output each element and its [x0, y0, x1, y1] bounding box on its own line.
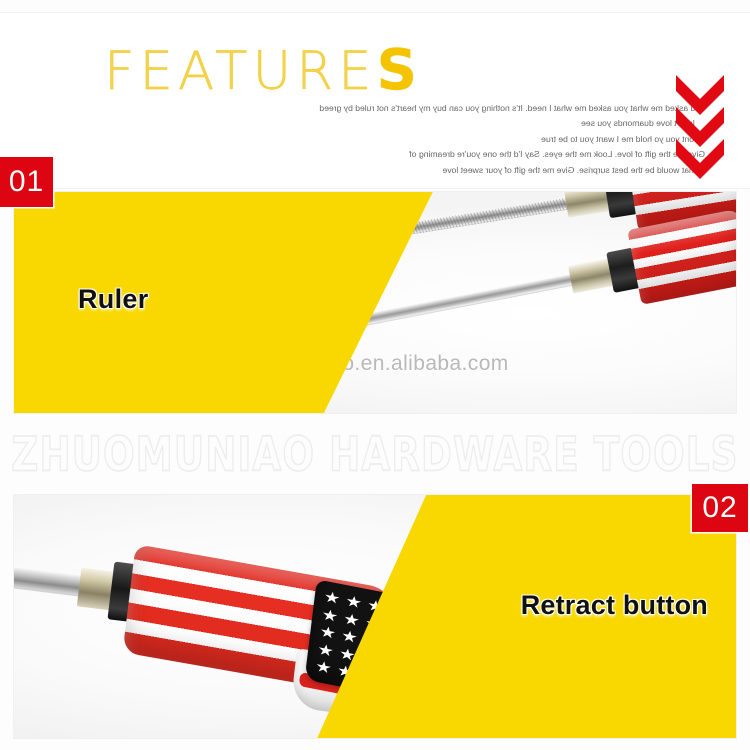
feature-panel-1: zhuomuniao.en.alibaba.com Ruler [14, 192, 736, 413]
lyrics-line: I wont you yo hold me I want you to be t… [95, 132, 705, 147]
watermark-band: ZHUOMUNIAO HARDWARE TOOLS [14, 420, 736, 490]
lyrics-line: Idon't love duamonds you see [95, 116, 705, 131]
star-icon [341, 630, 357, 645]
feature-panel-2: Retract button [14, 495, 736, 738]
chevron-down-icon [674, 137, 726, 179]
lyrics-block: You asked me what you asked me what I ne… [95, 101, 705, 178]
product-feature-page: FEATURES You asked me what you asked me … [0, 0, 750, 750]
star-icon [319, 626, 335, 641]
features-header: FEATURES You asked me what you asked me … [0, 13, 750, 188]
star-icon [315, 661, 331, 676]
page-title-tail: S [377, 38, 422, 103]
step-badge-02: 02 [692, 484, 748, 532]
striped-handle [627, 209, 736, 306]
feature-label-2: Retract button [521, 590, 708, 621]
star-icon [321, 608, 337, 623]
star-icon [324, 591, 340, 606]
lyrics-line: That would be the best surprise. Give me… [95, 163, 705, 178]
star-icon [317, 643, 333, 658]
feature-label-1: Ruler [78, 284, 149, 315]
star-icon [345, 595, 361, 610]
watermark-big: ZHUOMUNIAO HARDWARE TOOLS [11, 428, 738, 482]
chevron-double-down-icon-group [674, 73, 726, 183]
lyrics-line: You asked me what you asked me what I ne… [95, 101, 705, 116]
page-title: FEATURES [104, 43, 422, 99]
lyrics-line: Give me the gift of love. Look me the ey… [95, 147, 705, 162]
page-title-lead: FEATURE [104, 41, 377, 102]
star-icon [343, 613, 359, 628]
step-badge-01: 01 [0, 157, 53, 207]
